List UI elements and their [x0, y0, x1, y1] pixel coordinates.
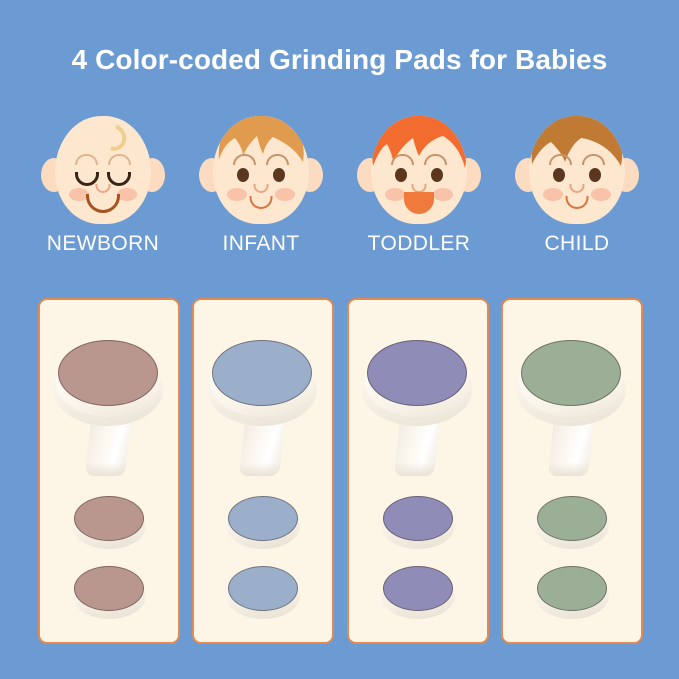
- pad-surface: [537, 566, 607, 611]
- pad-surface: [383, 566, 453, 611]
- pad-attached: [58, 340, 158, 406]
- head-shape: [529, 116, 625, 224]
- spare-pad-2: [72, 566, 146, 616]
- stage-label-toddler: TODDLER: [368, 232, 471, 256]
- pad-surface: [537, 496, 607, 541]
- mouth-smile: [86, 194, 120, 213]
- cheek-left: [543, 188, 563, 201]
- spare-pad-2: [226, 566, 300, 616]
- pad-card-newborn[interactable]: [38, 298, 180, 644]
- head-shape: [371, 116, 467, 224]
- pad-surface: [74, 566, 144, 611]
- stage-faces-row: NEWBORN INFANT: [28, 110, 652, 270]
- eye-right: [431, 168, 443, 182]
- pad-attached: [521, 340, 621, 406]
- baby-face-child: [513, 110, 641, 228]
- eye-right-closed: [107, 172, 131, 186]
- stage-column-infant: INFANT: [186, 110, 336, 270]
- eye-right: [273, 168, 285, 182]
- eyebrow-right: [108, 154, 131, 165]
- spare-pad-1: [535, 496, 609, 546]
- spare-pad-1: [72, 496, 146, 546]
- pad-surface: [228, 566, 298, 611]
- spare-pad-1: [226, 496, 300, 546]
- cheek-right: [117, 188, 137, 201]
- pad-surface: [383, 496, 453, 541]
- eyebrow-left: [75, 154, 98, 165]
- cheek-right: [591, 188, 611, 201]
- grinding-device-newborn: [50, 338, 168, 478]
- hair-curl-icon: [96, 120, 131, 156]
- grinding-device-toddler: [359, 338, 477, 478]
- eye-left: [237, 168, 249, 182]
- eye-right: [589, 168, 601, 182]
- pad-surface: [74, 496, 144, 541]
- eye-left: [395, 168, 407, 182]
- stage-label-child: CHILD: [544, 232, 609, 256]
- grinding-device-child: [513, 338, 631, 478]
- stage-column-newborn: NEWBORN: [28, 110, 178, 270]
- head-shape: [213, 116, 309, 224]
- baby-face-newborn: [39, 110, 167, 228]
- cheek-right: [275, 188, 295, 201]
- stage-label-infant: INFANT: [222, 232, 299, 256]
- stage-label-newborn: NEWBORN: [47, 232, 159, 256]
- spare-pad-2: [381, 566, 455, 616]
- pad-attached: [367, 340, 467, 406]
- pad-card-toddler[interactable]: [347, 298, 489, 644]
- spare-pad-2: [535, 566, 609, 616]
- pad-card-child[interactable]: [501, 298, 643, 644]
- cheek-left: [227, 188, 247, 201]
- page-title: 4 Color-coded Grinding Pads for Babies: [0, 44, 679, 76]
- pad-card-infant[interactable]: [192, 298, 334, 644]
- stage-column-toddler: TODDLER: [344, 110, 494, 270]
- stage-column-child: CHILD: [502, 110, 652, 270]
- pad-surface: [228, 496, 298, 541]
- grinding-device-infant: [204, 338, 322, 478]
- eye-left: [553, 168, 565, 182]
- nose: [96, 184, 111, 193]
- baby-face-toddler: [355, 110, 483, 228]
- pad-attached: [212, 340, 312, 406]
- cheek-right: [433, 188, 453, 201]
- pad-cards-row: [38, 298, 643, 644]
- head-shape: [55, 116, 151, 224]
- spare-pad-1: [381, 496, 455, 546]
- cheek-left: [385, 188, 405, 201]
- baby-face-infant: [197, 110, 325, 228]
